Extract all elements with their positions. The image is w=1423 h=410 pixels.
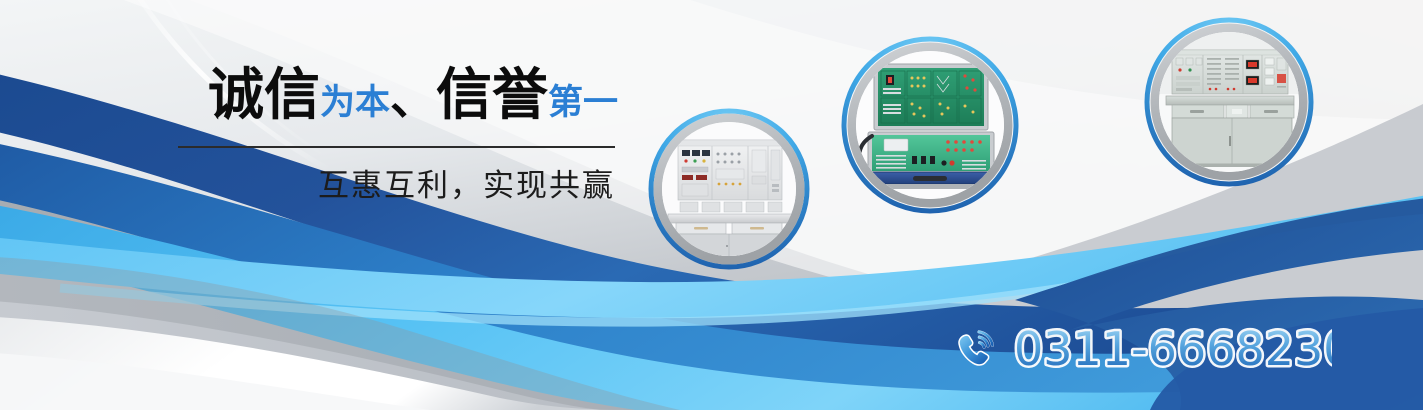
product-photo-3[interactable]: [1147, 20, 1311, 184]
headline-part-1: 诚信: [208, 63, 320, 128]
product-photo-1[interactable]: [651, 111, 807, 267]
headline-part-5: 第一: [548, 83, 618, 123]
headline-part-4: 信誉: [436, 63, 548, 128]
headline-part-2: 为本: [320, 83, 390, 123]
photo-3-content: [1159, 32, 1299, 172]
phone-number: 0311-66682303 0311-66682303: [1012, 322, 1332, 380]
svg-text:0311-66682303: 0311-66682303: [1014, 322, 1332, 376]
slogan-subtitle: 互惠互利，实现共赢: [178, 160, 615, 205]
photo-2-content: [856, 51, 1004, 199]
slogan-block: 诚信为本、信誉第一: [178, 68, 618, 124]
headline-part-3: 、: [390, 71, 436, 125]
phone-call-icon: [952, 328, 998, 374]
product-photo-2[interactable]: [844, 39, 1016, 211]
headline: 诚信为本、信誉第一: [178, 68, 618, 124]
slogan-divider: [178, 146, 615, 148]
contact-phone-block[interactable]: 0311-66682303 0311-66682303: [952, 322, 1332, 380]
promotional-banner: 诚信为本、信誉第一 互惠互利，实现共赢: [0, 0, 1423, 410]
